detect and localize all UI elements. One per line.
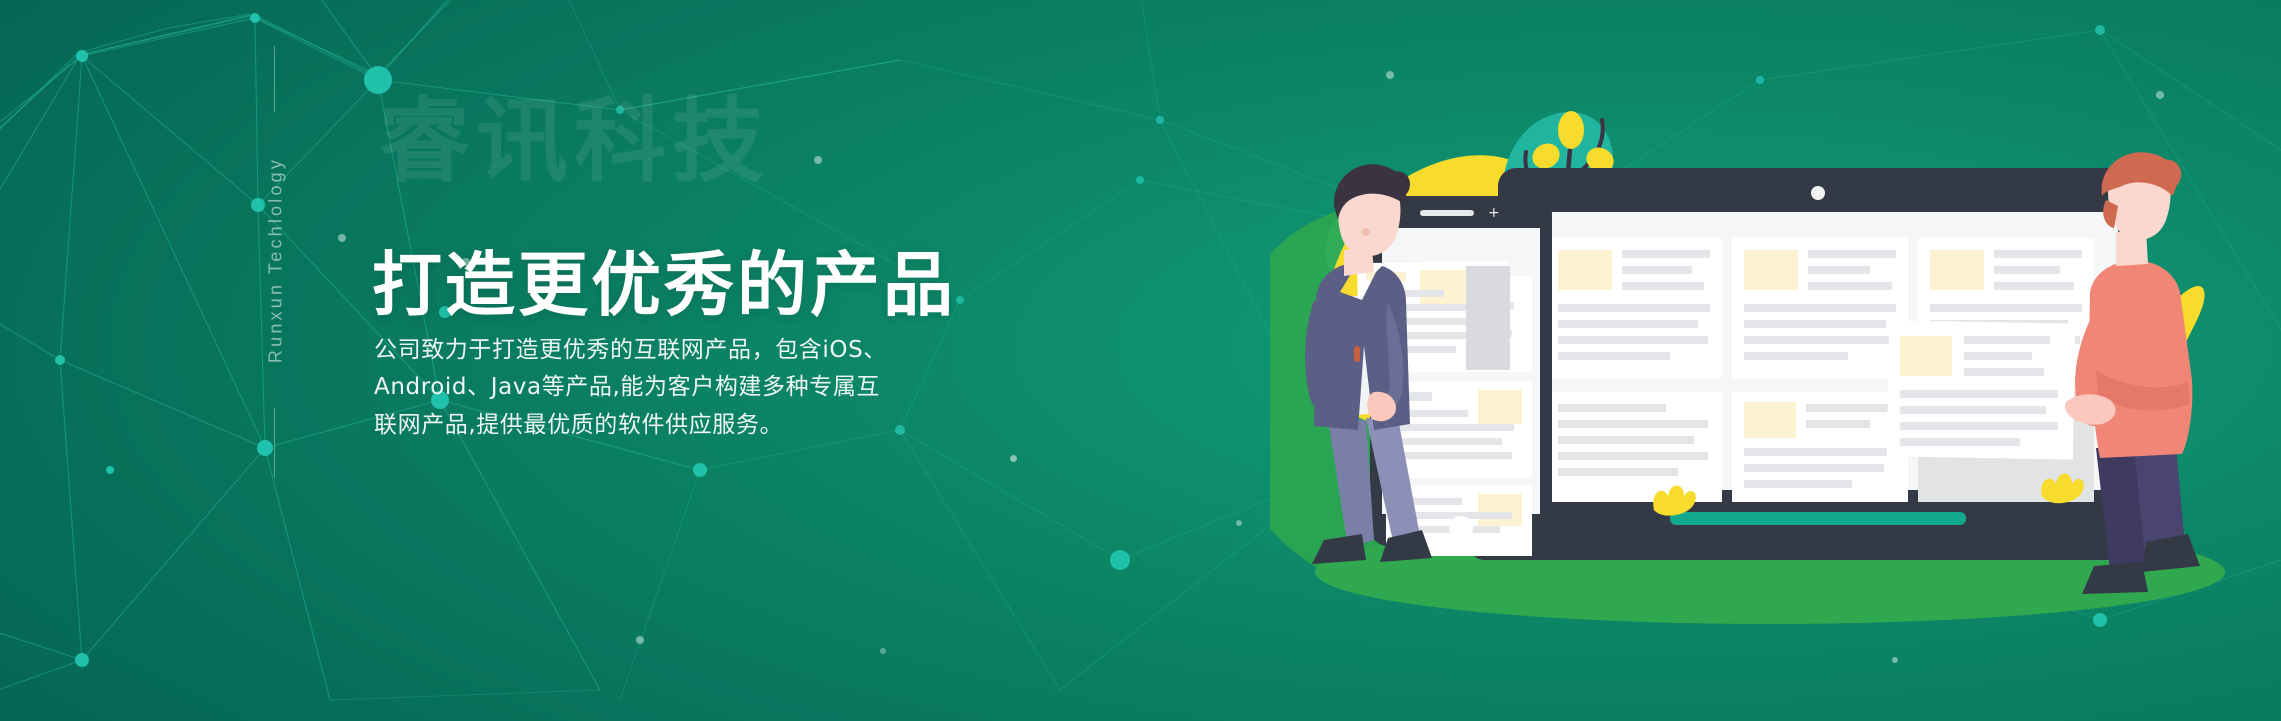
page-title: 打造更优秀的产品 <box>372 243 956 328</box>
svg-text:+: + <box>1488 205 1500 221</box>
floating-document <box>1887 320 2075 459</box>
decor-dot <box>1236 520 1242 526</box>
vertical-rule-top <box>274 46 275 112</box>
decor-dot <box>1010 455 1017 462</box>
description-paragraph: 公司致力于打造更优秀的互联网产品，包含iOS、 Android、Java等产品,… <box>374 332 804 444</box>
watermark-brand-text: 睿讯科技 <box>378 96 770 188</box>
description-line-1: 公司致力于打造更优秀的互联网产品，包含iOS、 <box>374 332 804 369</box>
vertical-rule-bottom <box>274 408 275 478</box>
description-line-2: Android、Java等产品,能为客户构建多种专属互 <box>374 369 804 406</box>
vertical-brand-label: Runxun Techlology <box>256 120 296 400</box>
hero-banner: .ln{stroke:#2bc3a8;stroke-width:1.1;opac… <box>0 0 2281 721</box>
vertical-brand-text: Runxun Techlology <box>266 157 287 363</box>
decor-dot <box>880 648 886 654</box>
team-devices-illustration: + <box>1270 0 2281 721</box>
description-line-3: 联网产品,提供最优质的软件供应服务。 <box>374 407 804 444</box>
